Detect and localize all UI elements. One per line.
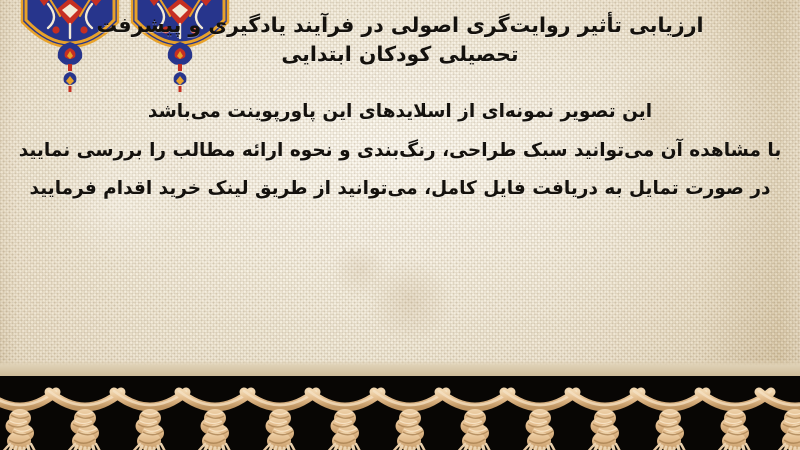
slide-title-line-1: ارزیابی تأثیر روایت‌گری اصولی در فرآیند … — [96, 13, 703, 37]
slide-body: این تصویر نمونه‌ای از اسلایدهای این پاور… — [14, 93, 786, 208]
slide-title-line-2: تحصیلی کودکان ابتدایی — [281, 42, 518, 66]
slide-body-line-1: این تصویر نمونه‌ای از اسلایدهای این پاور… — [14, 93, 786, 131]
carpet-knotted-fringe — [0, 340, 800, 450]
slide-body-line-2: با مشاهده آن می‌توانید سبک طراحی، رنگ‌بن… — [14, 132, 786, 170]
slide-title: ارزیابی تأثیر روایت‌گری اصولی در فرآیند … — [14, 11, 786, 69]
slide-body-line-3: در صورت تمایل به دریافت فایل کامل، می‌تو… — [14, 170, 786, 208]
presentation-slide: ارزیابی تأثیر روایت‌گری اصولی در فرآیند … — [0, 0, 800, 450]
slide-text-block: ارزیابی تأثیر روایت‌گری اصولی در فرآیند … — [0, 0, 800, 209]
